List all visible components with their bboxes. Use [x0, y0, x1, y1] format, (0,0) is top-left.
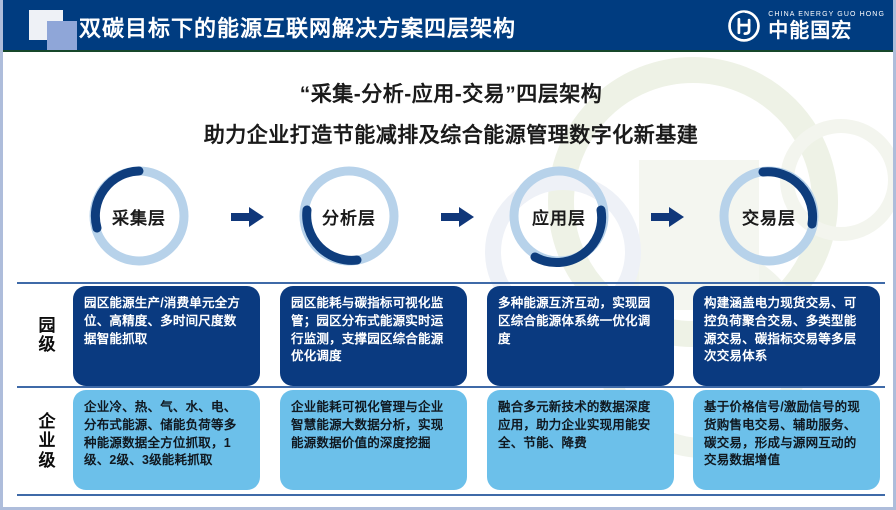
logo-text: CHINA ENERGY GUO HONG 中能国宏 — [768, 11, 885, 41]
matrix-card-enterprise-trading[interactable]: 基于价格信号/激励信号的现货购售电交易、辅助服务、碳交易，形成与源网互动的交易数… — [693, 390, 880, 490]
matrix-card-park-analysis[interactable]: 园区能耗与碳指标可视化监管；园区分布式能源实时运行监测，支撑园区综合能源优化调度 — [280, 286, 467, 386]
subtitle-secondary: 助力企业打造节能减排及综合能源管理数字化新基建 — [3, 119, 896, 149]
logo-english-name: CHINA ENERGY GUO HONG — [768, 11, 885, 18]
page-title: 双碳目标下的能源互联网解决方案四层架构 — [79, 11, 516, 43]
matrix-divider-bottom — [17, 494, 885, 496]
slide-root: 双碳目标下的能源互联网解决方案四层架构 CHINA ENERGY GUO HON… — [0, 0, 896, 510]
flow-arrow-1-icon — [231, 206, 265, 228]
logo-chinese-name: 中能国宏 — [768, 21, 885, 41]
flow-arrow-2-icon — [441, 206, 475, 228]
flow-node-trading[interactable]: 交易层 — [715, 162, 823, 270]
logo-mark-icon — [727, 9, 761, 43]
architecture-matrix: 园 级 企 业 级 园区能源生产/消费单元全方位、高精度、多时间尺度数据智能抓取… — [17, 282, 885, 496]
subtitle-primary: “采集-分析-应用-交易”四层架构 — [3, 78, 896, 108]
flow-node-application[interactable]: 应用层 — [505, 162, 613, 270]
row-label-char: 级 — [39, 451, 56, 470]
row-label-char: 企 — [39, 412, 56, 431]
row-label-char: 级 — [39, 335, 56, 354]
layer-flow-row: 采集层 分析层 应用层 — [3, 162, 896, 270]
matrix-card-enterprise-analysis[interactable]: 企业能耗可视化管理与企业智慧能源大数据分析，实现能源数据价值的深度挖掘 — [280, 390, 467, 490]
row-label-char: 园 — [39, 316, 56, 335]
row-label-park: 园 级 — [25, 300, 69, 370]
flow-node-label: 应用层 — [505, 162, 613, 270]
flow-node-collection[interactable]: 采集层 — [85, 162, 193, 270]
flow-node-label: 交易层 — [715, 162, 823, 270]
header-bar: 双碳目标下的能源互联网解决方案四层架构 CHINA ENERGY GUO HON… — [3, 0, 896, 52]
row-label-enterprise: 企 业 级 — [25, 400, 69, 482]
matrix-divider-top — [17, 282, 885, 284]
matrix-card-enterprise-collection[interactable]: 企业冷、热、气、水、电、分布式能源、储能负荷等多种能源数据全方位抓取，1级、2级… — [73, 390, 260, 490]
flow-node-analysis[interactable]: 分析层 — [295, 162, 403, 270]
flow-arrow-3-icon — [651, 206, 685, 228]
company-logo: CHINA ENERGY GUO HONG 中能国宏 — [727, 7, 885, 45]
row-label-char: 业 — [39, 431, 56, 450]
matrix-divider-middle — [17, 386, 885, 388]
matrix-card-enterprise-application[interactable]: 融合多元新技术的数据深度应用，助力企业实现用能安全、节能、降费 — [487, 390, 674, 490]
flow-node-label: 分析层 — [295, 162, 403, 270]
matrix-card-park-trading[interactable]: 构建涵盖电力现货交易、可控负荷聚合交易、多类型能源交易、碳指标交易等多层次交易体… — [693, 286, 880, 386]
matrix-card-park-collection[interactable]: 园区能源生产/消费单元全方位、高精度、多时间尺度数据智能抓取 — [73, 286, 260, 386]
matrix-card-park-application[interactable]: 多种能源互济互动，实现园区综合能源体系统一优化调度 — [487, 286, 674, 386]
header-square-blue — [47, 21, 77, 50]
subtitle-block: “采集-分析-应用-交易”四层架构 助力企业打造节能减排及综合能源管理数字化新基… — [3, 78, 896, 149]
header-decoration — [29, 10, 81, 46]
flow-node-label: 采集层 — [85, 162, 193, 270]
